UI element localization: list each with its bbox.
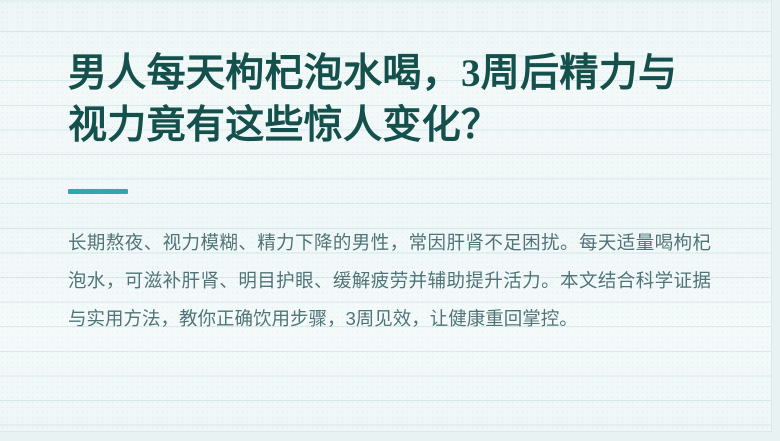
page-title: 男人每天枸杞泡水喝，3周后精力与视力竟有这些惊人变化？ (68, 0, 711, 152)
article-content: 男人每天枸杞泡水喝，3周后精力与视力竟有这些惊人变化？ 长期熬夜、视力模糊、精力… (0, 0, 771, 338)
article-card: 男人每天枸杞泡水喝，3周后精力与视力竟有这些惊人变化？ 长期熬夜、视力模糊、精力… (0, 0, 772, 432)
article-summary: 长期熬夜、视力模糊、精力下降的男性，常因肝肾不足困扰。每天适量喝枸杞泡水，可滋补… (68, 194, 711, 338)
